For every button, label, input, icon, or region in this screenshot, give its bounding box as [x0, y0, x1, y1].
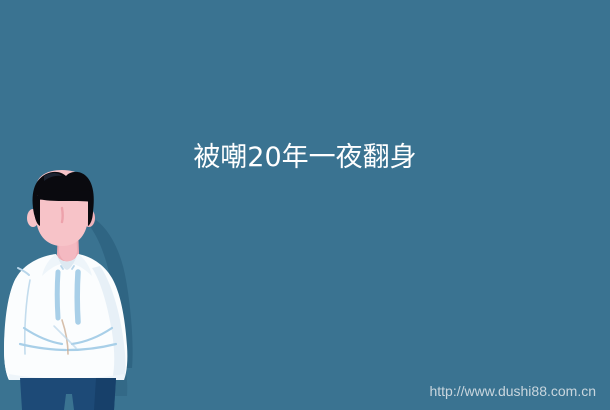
- drawstring-left: [57, 272, 58, 318]
- nose: [62, 208, 63, 222]
- page-title: 被嘲20年一夜翻身: [0, 140, 610, 176]
- drawstring-right: [77, 272, 78, 322]
- poster-canvas: 被嘲20年一夜翻身 http://www.dushi88.com.cn: [0, 0, 610, 410]
- watermark-url: http://www.dushi88.com.cn: [429, 383, 596, 399]
- pants-shade: [94, 378, 116, 410]
- illustration-young-man-hoodie: [0, 168, 160, 410]
